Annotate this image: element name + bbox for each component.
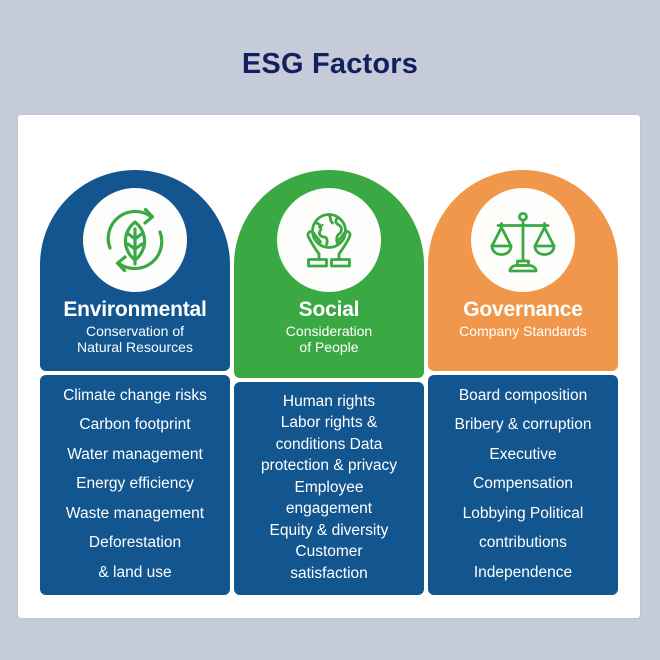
list-item: Customer [240,544,418,560]
subtitle-line-1: Consideration [286,323,372,339]
list-environmental: Climate change risks Carbon footprint Wa… [40,375,230,596]
subtitle-line-2: of People [299,339,358,355]
column-social: Social Consideration of People Human rig… [234,170,424,595]
header-text-governance: Governance Company Standards [428,299,618,340]
header-environmental: Environmental Conservation of Natural Re… [40,170,230,371]
subtitle-environmental: Conservation of Natural Resources [44,324,226,356]
list-item: satisfaction [240,566,418,582]
list-item: Energy efficiency [46,476,224,492]
title-social: Social [238,299,420,322]
list-social: Human rights Labor rights & conditions D… [234,382,424,595]
list-item: Labor rights & [240,415,418,431]
list-item: Climate change risks [46,388,224,404]
list-governance: Board composition Bribery & corruption E… [428,375,618,596]
list-item: Equity & diversity [240,523,418,539]
leaf-recycle-icon [83,188,187,292]
column-environmental: Environmental Conservation of Natural Re… [40,170,230,595]
subtitle-social: Consideration of People [238,324,420,356]
list-item: Independence [434,565,612,581]
infographic-root: ESG Factors [0,0,660,660]
list-item: Employee [240,480,418,496]
esg-columns: Environmental Conservation of Natural Re… [40,170,618,595]
title-environmental: Environmental [44,299,226,322]
subtitle-line-1: Conservation of [86,323,184,339]
list-item: engagement [240,501,418,517]
header-text-social: Social Consideration of People [234,299,424,356]
balance-scales-icon [471,188,575,292]
header-social: Social Consideration of People [234,170,424,378]
list-item: Bribery & corruption [434,417,612,433]
list-item: Waste management [46,506,224,522]
list-item: Water management [46,447,224,463]
page-title: ESG Factors [0,48,660,81]
subtitle-governance: Company Standards [432,324,614,340]
list-item: Carbon footprint [46,417,224,433]
list-item: Compensation [434,476,612,492]
subtitle-line-1: Company Standards [459,323,587,339]
header-text-environmental: Environmental Conservation of Natural Re… [40,299,230,356]
column-governance: Governance Company Standards Board compo… [428,170,618,595]
list-item: protection & privacy [240,458,418,474]
list-item: & land use [46,565,224,581]
list-item: Board composition [434,388,612,404]
list-item: Human rights [240,394,418,410]
header-governance: Governance Company Standards [428,170,618,371]
list-item: Deforestation [46,535,224,551]
list-item: Executive [434,447,612,463]
list-item: Lobbying Political [434,506,612,522]
list-item: contributions [434,535,612,551]
content-card: Environmental Conservation of Natural Re… [18,115,640,618]
list-item: conditions Data [240,437,418,453]
title-governance: Governance [432,299,614,322]
subtitle-line-2: Natural Resources [77,339,193,355]
hands-globe-icon [277,188,381,292]
